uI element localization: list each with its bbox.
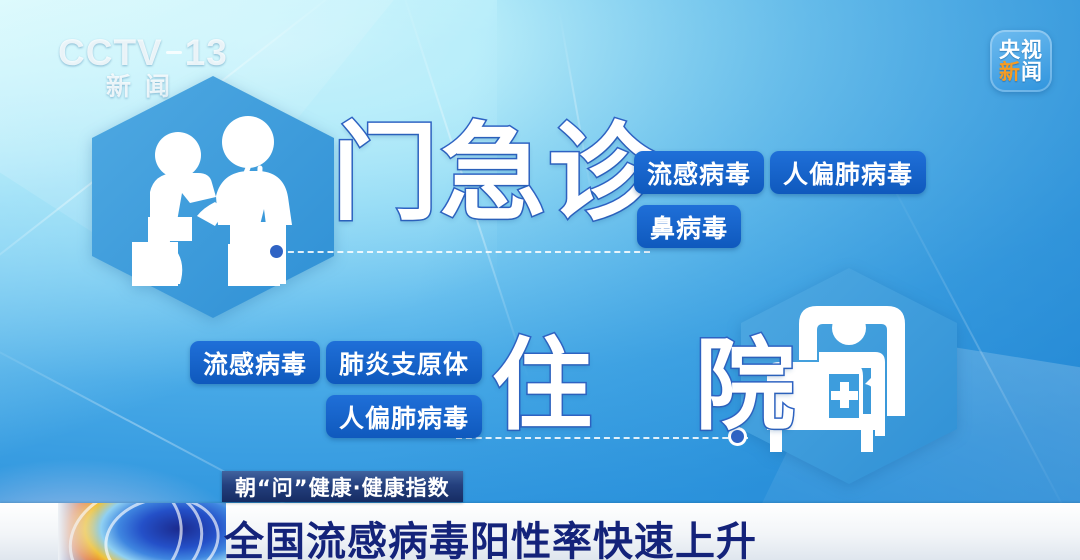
badge-rest-char: 闻 [1021,61,1043,84]
outpatient-tag-3: 鼻病毒 [637,205,741,248]
inpatient-tag-1: 流感病毒 [190,341,320,384]
inpatient-heading: 住 院 [492,336,829,436]
doctor-patient-icon [88,74,338,320]
badge-line-2: 新闻 [999,62,1043,83]
badge-accent-char: 新 [999,61,1021,84]
swirl-fade [58,503,98,560]
broadcast-frame: CCTV13 新闻 央视 新闻 [0,0,1080,560]
inpatient-tag-3: 人偏肺病毒 [326,395,482,438]
outpatient-tag-1: 流感病毒 [634,151,764,194]
headline-text: 全国流感病毒阳性率快速上升 [224,509,757,560]
program-label-bar: 朝“问”健康·健康指数 [222,471,463,502]
cctv-news-badge: 央视 新闻 [990,30,1052,92]
outpatient-node-dot [270,245,283,258]
outpatient-hexagon [88,74,338,320]
outpatient-underline [278,251,650,253]
outpatient-heading: 门急诊 [332,121,656,227]
badge-line-1: 央视 [999,40,1043,61]
outpatient-tag-2: 人偏肺病毒 [770,151,926,194]
program-label-text: 朝“问”健康·健康指数 [235,472,450,502]
swirl-graphic [58,503,226,560]
inpatient-tag-2: 肺炎支原体 [326,341,482,384]
